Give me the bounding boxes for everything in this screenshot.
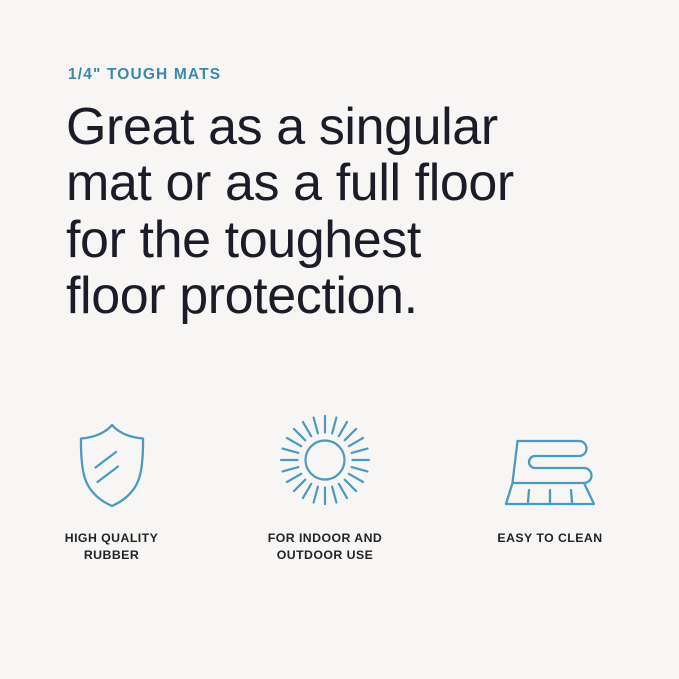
feature-caption-line-1: HIGH QUALITY bbox=[65, 530, 159, 547]
headline-line-1: Great as a singular bbox=[66, 99, 606, 155]
headline-line-4: floor protection. bbox=[66, 268, 606, 324]
promo-banner: 1/4" TOUGH MATS Great as a singular mat … bbox=[0, 0, 679, 679]
headline-line-3: for the toughest bbox=[66, 212, 606, 268]
feature-item-high-quality-rubber: HIGH QUALITY RUBBER bbox=[0, 408, 225, 565]
feature-caption-line-2: RUBBER bbox=[65, 547, 159, 564]
feature-caption: FOR INDOOR AND OUTDOOR USE bbox=[268, 530, 382, 565]
feature-caption-line-1: FOR INDOOR AND bbox=[268, 530, 382, 547]
feature-item-indoor-outdoor-use: FOR INDOOR AND OUTDOOR USE bbox=[225, 408, 425, 565]
feature-caption-line-2: OUTDOOR USE bbox=[268, 547, 382, 564]
feature-list: HIGH QUALITY RUBBER bbox=[0, 408, 679, 565]
feature-caption: HIGH QUALITY RUBBER bbox=[65, 530, 159, 565]
eyebrow-label: 1/4" TOUGH MATS bbox=[68, 67, 221, 83]
feature-caption-line-1: EASY TO CLEAN bbox=[497, 530, 602, 547]
headline-line-2: mat or as a full floor bbox=[66, 155, 606, 211]
shield-icon bbox=[75, 408, 149, 508]
feature-item-easy-to-clean: EASY TO CLEAN bbox=[425, 408, 675, 547]
feature-caption: EASY TO CLEAN bbox=[497, 530, 602, 547]
page-title: Great as a singular mat or as a full flo… bbox=[66, 99, 606, 325]
scrub-brush-icon bbox=[503, 408, 597, 508]
sun-icon bbox=[277, 408, 373, 508]
